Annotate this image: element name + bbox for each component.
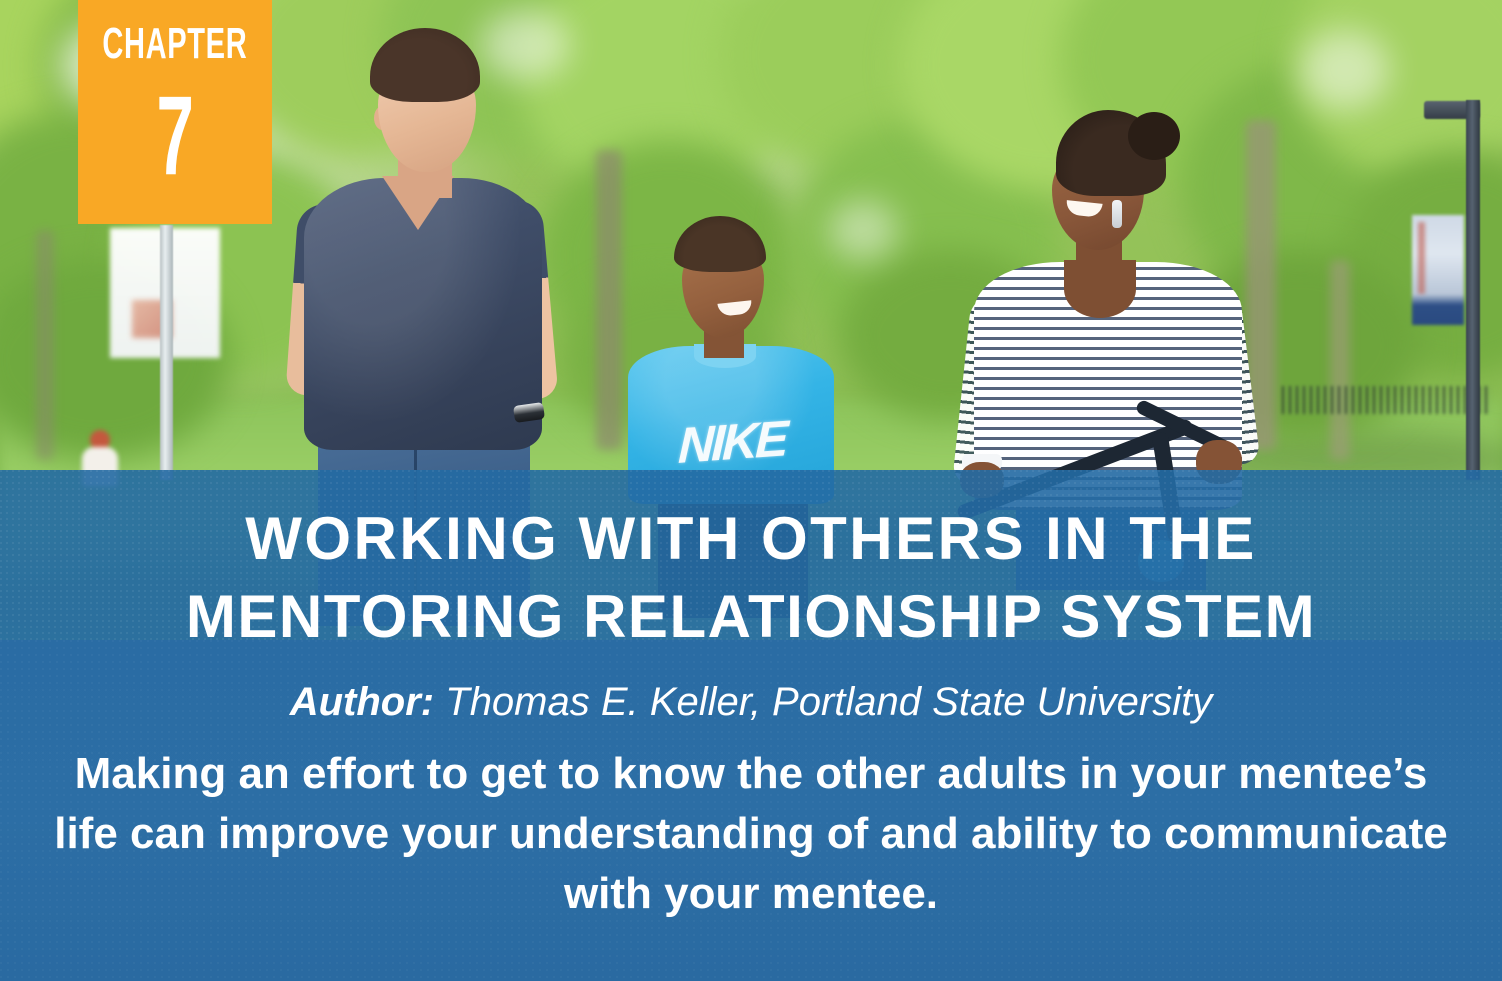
- tree-trunk: [36, 230, 54, 460]
- author-name: Thomas E. Keller, Portland State Univers…: [434, 680, 1212, 724]
- adult-female-mentor: [960, 110, 1260, 484]
- tree-trunk: [1330, 260, 1350, 460]
- sun-fleck: [1300, 30, 1390, 110]
- adult-male-mentor: [286, 14, 558, 480]
- youth-hair: [674, 216, 766, 272]
- chapter-badge: CHAPTER 7: [78, 0, 272, 224]
- chapter-number: 7: [156, 80, 193, 192]
- banner-text-block: WORKING WITH OTHERS IN THE MENTORING REL…: [0, 470, 1502, 981]
- page-title-line-2: MENTORING RELATIONSHIP SYSTEM: [186, 578, 1316, 656]
- earring: [1112, 200, 1122, 228]
- chapter-cover-page: NIKE: [0, 0, 1502, 981]
- lamp-post-left: [160, 225, 173, 480]
- chapter-label: CHAPTER: [103, 22, 248, 66]
- author-label: Author:: [290, 680, 434, 724]
- page-title-line-1: WORKING WITH OTHERS IN THE: [245, 500, 1257, 578]
- chapter-blurb: Making an effort to get to know the othe…: [51, 744, 1451, 924]
- female-hair-bun: [1128, 112, 1180, 160]
- tree-trunk: [596, 150, 622, 450]
- park-fence: [1282, 386, 1492, 414]
- author-line: Author: Thomas E. Keller, Portland State…: [290, 682, 1213, 722]
- lamp-post-right: [1466, 100, 1480, 480]
- youth-mentee: NIKE: [622, 210, 842, 490]
- lamp-banner-right-stripe: [1418, 222, 1425, 294]
- male-hair: [370, 28, 480, 102]
